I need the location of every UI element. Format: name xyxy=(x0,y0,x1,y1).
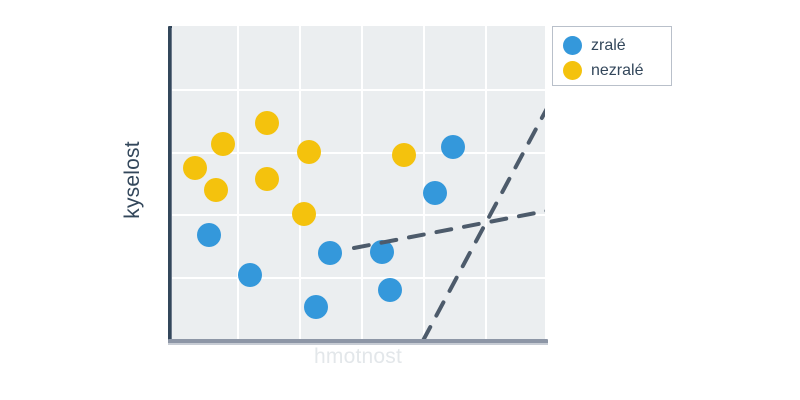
data-point-zrale-1[interactable] xyxy=(238,263,262,287)
data-point-zrale-7[interactable] xyxy=(441,135,465,159)
x-axis-label: hmotnost xyxy=(170,345,546,369)
legend-swatch-nezrale-icon xyxy=(563,61,582,80)
data-point-zrale-2[interactable] xyxy=(304,295,328,319)
data-point-zrale-3[interactable] xyxy=(318,241,342,265)
legend: zralé nezralé xyxy=(552,26,672,86)
gridline-horizontal-0 xyxy=(172,89,545,91)
legend-item-zrale[interactable]: zralé xyxy=(563,34,671,57)
data-point-nezrale-0[interactable] xyxy=(183,156,207,180)
data-point-nezrale-3[interactable] xyxy=(255,111,279,135)
data-point-nezrale-5[interactable] xyxy=(292,202,316,226)
gridline-horizontal-3 xyxy=(172,277,545,279)
gridline-vertical-0 xyxy=(237,26,239,339)
gridline-horizontal-2 xyxy=(172,214,545,216)
legend-item-nezrale[interactable]: nezralé xyxy=(563,59,671,82)
gridline-vertical-3 xyxy=(423,26,425,339)
plot-area xyxy=(172,26,545,339)
data-point-nezrale-7[interactable] xyxy=(392,143,416,167)
legend-swatch-zrale-icon xyxy=(563,36,582,55)
data-point-nezrale-6[interactable] xyxy=(297,140,321,164)
data-point-nezrale-4[interactable] xyxy=(255,167,279,191)
scatter-plot-figure: kyselost hmotnost zralé nezralé xyxy=(0,0,800,400)
shallow-dashed-boundary xyxy=(354,178,545,248)
legend-label-zrale: zralé xyxy=(591,37,626,55)
data-point-zrale-6[interactable] xyxy=(423,181,447,205)
gridline-vertical-4 xyxy=(485,26,487,339)
data-point-nezrale-1[interactable] xyxy=(204,178,228,202)
data-point-nezrale-2[interactable] xyxy=(211,132,235,156)
data-point-zrale-0[interactable] xyxy=(197,223,221,247)
y-axis-label: kyselost xyxy=(118,110,148,250)
gridline-vertical-1 xyxy=(299,26,301,339)
data-point-zrale-5[interactable] xyxy=(378,278,402,302)
gridline-vertical-2 xyxy=(361,26,363,339)
legend-label-nezrale: nezralé xyxy=(591,62,643,80)
data-point-zrale-4[interactable] xyxy=(370,240,394,264)
